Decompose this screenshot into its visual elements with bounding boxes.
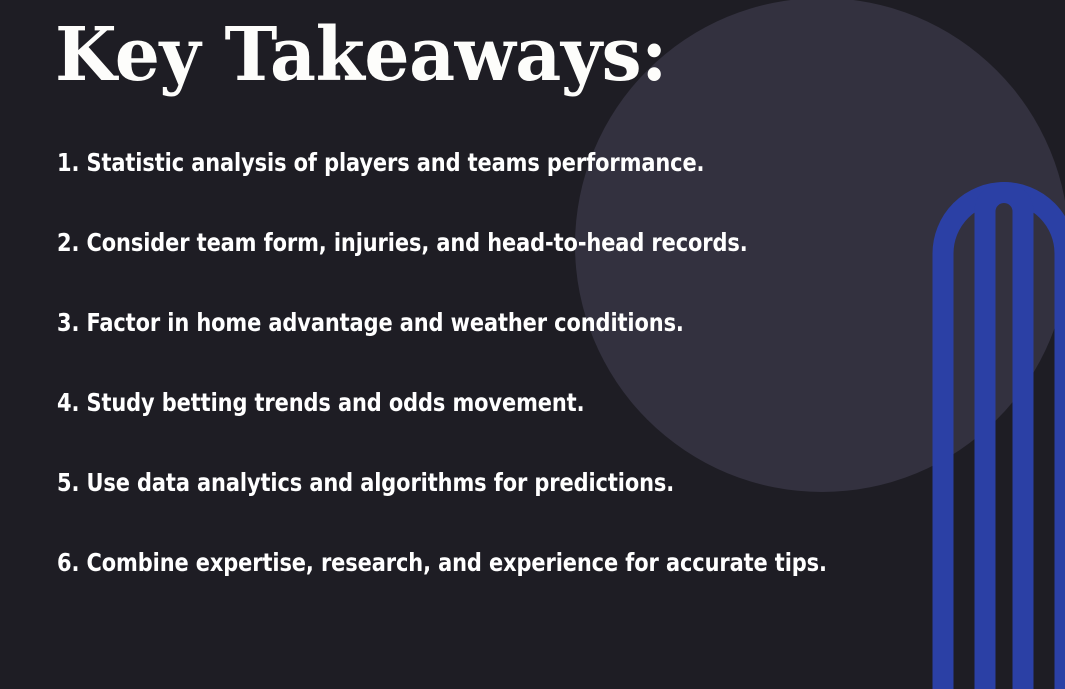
list-item: 5. Use data analytics and algorithms for… <box>57 470 894 550</box>
slide-content: Key Takeaways: 1. Statistic analysis of … <box>0 0 1065 689</box>
key-takeaways-slide: Key Takeaways: 1. Statistic analysis of … <box>0 0 1065 689</box>
list-item: 3. Factor in home advantage and weather … <box>57 310 894 390</box>
list-item: 4. Study betting trends and odds movemen… <box>57 390 894 470</box>
list-item: 2. Consider team form, injuries, and hea… <box>57 230 894 310</box>
takeaways-list: 1. Statistic analysis of players and tea… <box>57 150 957 630</box>
list-item: 1. Statistic analysis of players and tea… <box>57 150 894 230</box>
list-item: 6. Combine expertise, research, and expe… <box>57 550 894 630</box>
page-title: Key Takeaways: <box>55 18 667 93</box>
